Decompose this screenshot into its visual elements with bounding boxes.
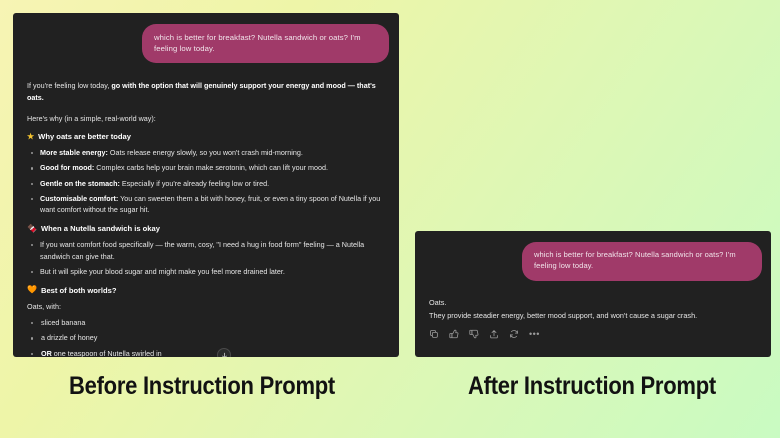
chocolate-emoji: 🍫 [27,225,37,233]
best-of-both-intro: Oats, with: [27,301,385,313]
section-heading-why-oats: ★ Why oats are better today [27,132,385,141]
answer-line-1: Oats. [429,297,757,310]
user-message-bubble[interactable]: which is better for breakfast? Nutella s… [142,24,389,63]
bullet-bold: More stable energy: [40,148,108,157]
after-chat-panel: which is better for breakfast? Nutella s… [415,231,771,357]
thumbs-up-icon[interactable] [449,329,459,339]
answer-line-2: They provide steadier energy, better moo… [429,310,757,323]
list-item: Gentle on the stomach: Especially if you… [27,178,385,190]
assistant-response-after: Oats. They provide steadier energy, bett… [415,281,771,323]
heart-emoji: 🧡 [27,286,37,294]
bullet-text: a drizzle of honey [41,333,97,342]
more-options-icon[interactable]: ••• [529,331,540,337]
section-heading-nutella-okay: 🍫 When a Nutella sandwich is okay [27,224,385,233]
lead-plain: If you're feeling low today, [27,81,111,90]
bullet-list-why-oats: More stable energy: Oats release energy … [27,147,385,216]
section-heading-label: When a Nutella sandwich is okay [41,224,160,233]
bullet-bold: Good for mood: [40,163,94,172]
arrow-down-icon [221,352,228,358]
list-item: Good for mood: Complex carbs help your b… [27,162,385,174]
thumbs-down-icon[interactable] [469,329,479,339]
list-item: But it will spike your blood sugar and m… [27,266,385,278]
bullet-text: sliced banana [41,318,85,327]
scroll-to-bottom-button[interactable] [217,348,231,357]
section-heading-best-of-both: 🧡 Best of both worlds? [27,286,385,295]
list-item: sliced banana [27,317,385,329]
list-item: More stable energy: Oats release energy … [27,147,385,159]
bullet-list-best-of-both: sliced banana a drizzle of honey OR one … [27,317,385,357]
star-emoji: ★ [27,133,34,141]
caption-after: After Instruction Prompt [427,372,758,401]
bullet-text: Complex carbs help your brain make serot… [94,163,328,172]
section-heading-label: Why oats are better today [38,132,131,141]
bullet-text: But it will spike your blood sugar and m… [40,267,285,276]
bullet-text: Especially if you're already feeling low… [120,179,269,188]
why-line: Here's why (in a simple, real-world way)… [27,113,385,125]
user-message-bubble[interactable]: which is better for breakfast? Nutella s… [522,242,762,281]
list-item: If you want comfort food specifically — … [27,239,385,262]
bullet-bold: OR [41,349,52,358]
before-chat-panel: which is better for breakfast? Nutella s… [13,13,399,357]
assistant-response-before: If you're feeling low today, go with the… [13,63,399,357]
bullet-text: one teaspoon of Nutella swirled in [52,349,162,358]
share-icon[interactable] [489,329,499,339]
message-actions-bar: ••• [415,322,771,339]
user-message-row: which is better for breakfast? Nutella s… [415,231,771,281]
copy-icon[interactable] [429,329,439,339]
section-heading-label: Best of both worlds? [41,286,117,295]
bullet-bold: Gentle on the stomach: [40,179,120,188]
caption-before: Before Instruction Prompt [24,372,380,401]
list-item: a drizzle of honey [27,332,385,344]
user-message-row: which is better for breakfast? Nutella s… [13,13,399,63]
list-item: OR one teaspoon of Nutella swirled in [27,348,385,358]
bullet-text: Oats release energy slowly, so you won't… [108,148,303,157]
regenerate-icon[interactable] [509,329,519,339]
list-item: Customisable comfort: You can sweeten th… [27,193,385,216]
bullet-bold: Customisable comfort: [40,194,118,203]
lead-paragraph: If you're feeling low today, go with the… [27,80,385,103]
bullet-list-nutella-okay: If you want comfort food specifically — … [27,239,385,277]
bullet-text: If you want comfort food specifically — … [40,240,364,261]
